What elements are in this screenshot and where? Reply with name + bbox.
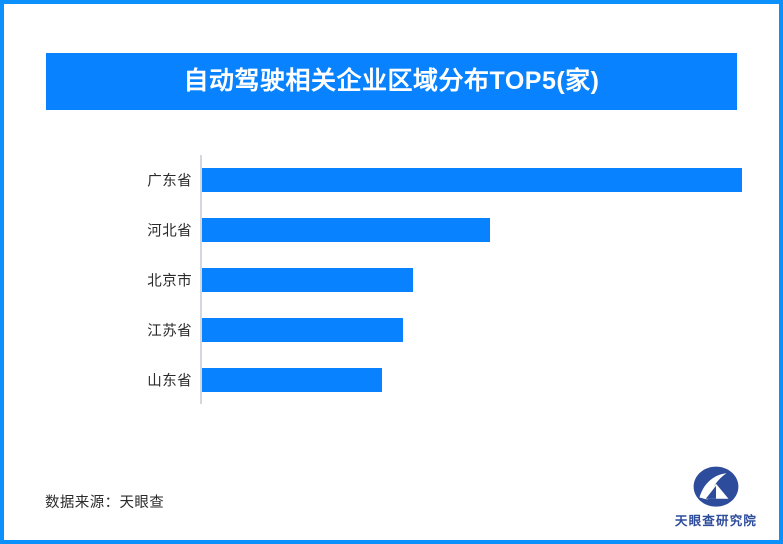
page-title: 自动驾驶相关企业区域分布TOP5(家) [184,69,600,94]
bar-fill [202,168,742,192]
bar-chart: 广东省河北省北京市江苏省山东省 [4,151,783,413]
bar-row: 河北省 [4,205,783,255]
bar-fill [202,368,382,392]
bar-category-label: 北京市 [147,270,192,291]
bar-fill [202,318,403,342]
bar-row: 北京市 [4,255,783,305]
tianyancha-eye-mountain-logo-icon [693,466,739,507]
bar-rows-container: 广东省河北省北京市江苏省山东省 [4,151,783,413]
bar-track [202,318,742,342]
brand-logo: 天眼查研究院 [666,466,766,536]
bar-track [202,368,742,392]
bar-category-label: 山东省 [147,370,192,391]
bar-fill [202,268,413,292]
data-source-label: 数据来源：天眼查 [45,491,164,512]
bar-category-label: 广东省 [147,170,192,191]
bar-category-label: 江苏省 [147,320,192,341]
bar-track [202,218,742,242]
bar-row: 广东省 [4,155,783,205]
title-banner: 自动驾驶相关企业区域分布TOP5(家) [46,53,737,110]
bar-fill [202,218,490,242]
brand-logo-text: 天眼查研究院 [675,510,757,529]
bar-row: 江苏省 [4,305,783,355]
bar-track [202,168,742,192]
bar-track [202,268,742,292]
bar-category-label: 河北省 [147,220,192,241]
bar-row: 山东省 [4,355,783,405]
chart-page: 自动驾驶相关企业区域分布TOP5(家) 广东省河北省北京市江苏省山东省 数据来源… [0,0,783,544]
